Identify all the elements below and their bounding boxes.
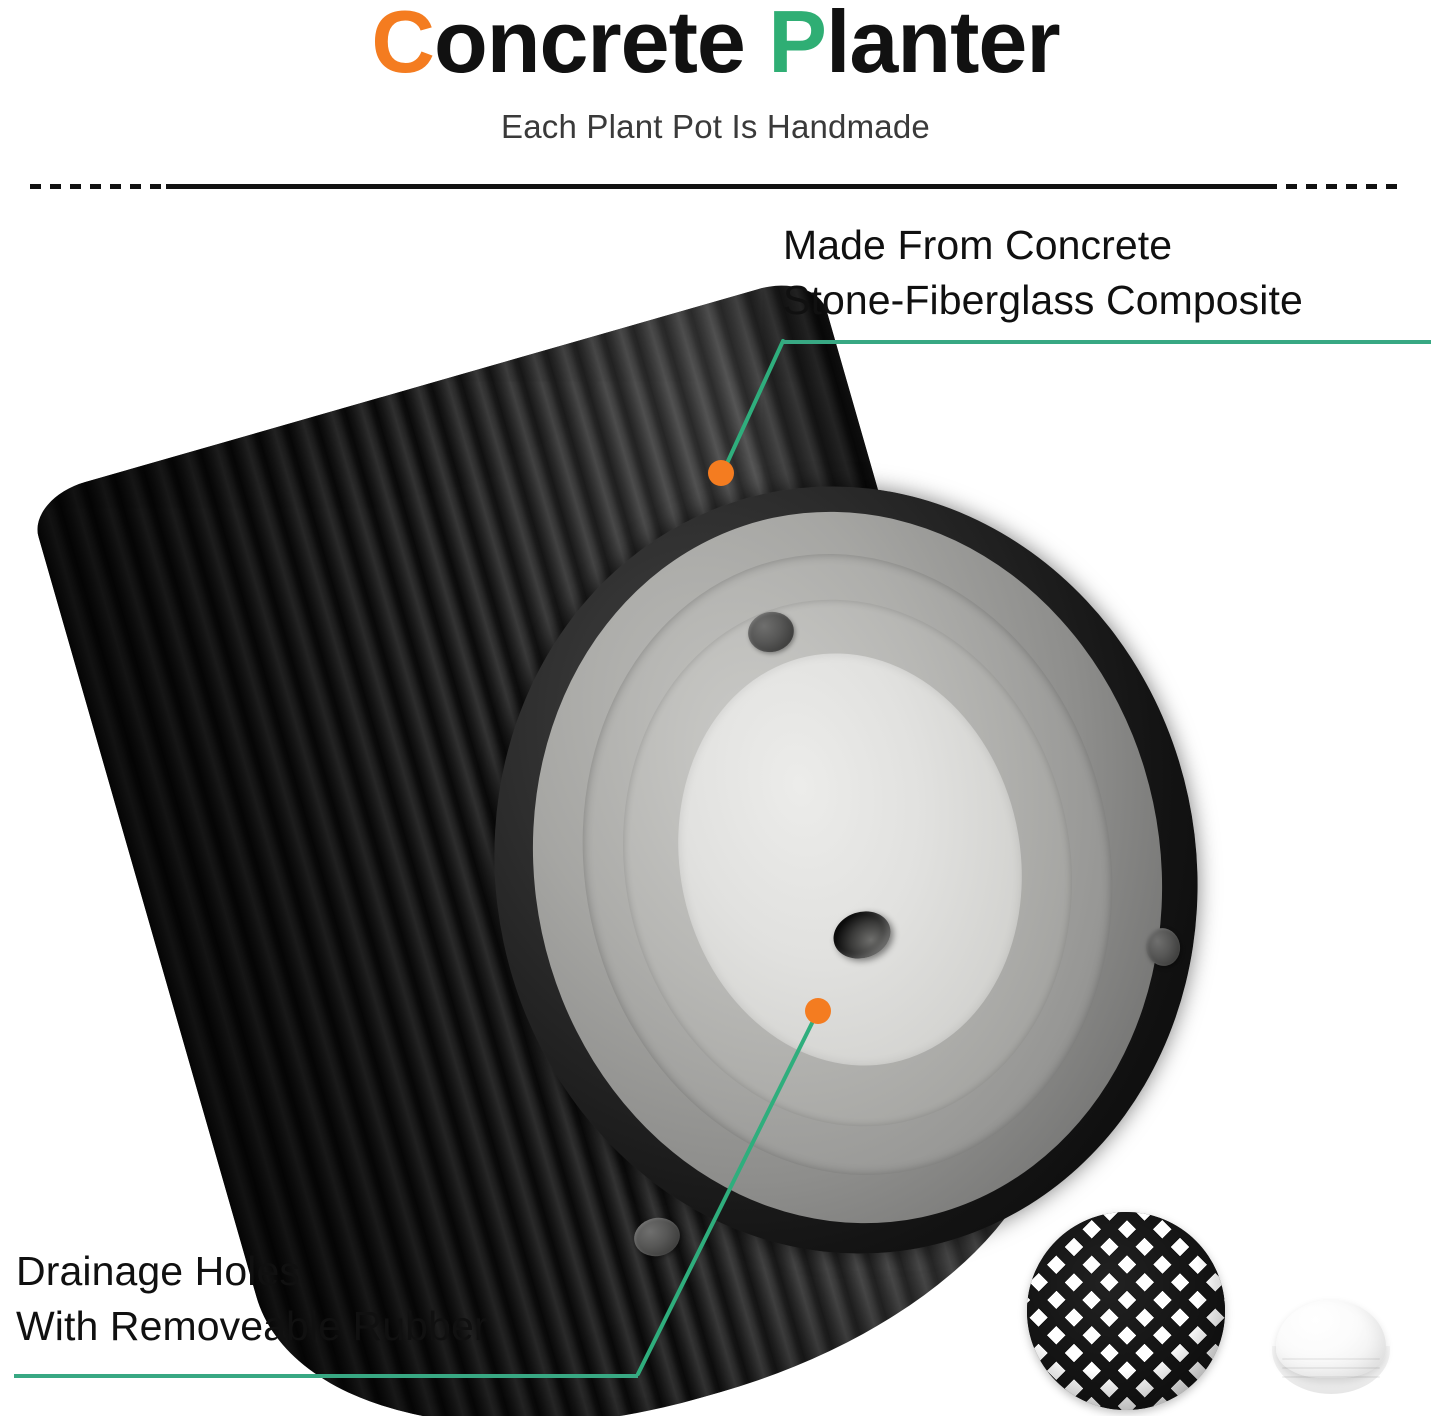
callout-material-line1: Made From Concrete — [783, 218, 1303, 273]
divider-solid-centre — [166, 184, 1266, 189]
rubber-plug-ridge — [1282, 1376, 1380, 1378]
callout-drainage-underline — [14, 1374, 638, 1378]
divider-dash-right — [1266, 184, 1401, 189]
header-divider — [30, 184, 1401, 189]
mesh-vignette — [1027, 1212, 1225, 1410]
callout-drainage-line1: Drainage Holes — [16, 1244, 488, 1299]
divider-dash-left — [30, 184, 168, 189]
infographic-page: Concrete Planter Each Plant Pot Is Handm… — [0, 0, 1431, 1416]
rubber-plug-ridge — [1282, 1367, 1380, 1369]
title-accent-p: P — [768, 0, 826, 91]
callout-material-underline — [783, 340, 1431, 344]
page-subtitle: Each Plant Pot Is Handmade — [0, 108, 1431, 146]
callout-dot-material — [708, 460, 734, 486]
page-title: Concrete Planter — [0, 0, 1431, 86]
callout-dot-drainage — [805, 998, 831, 1024]
rubber-plug-icon — [1272, 1300, 1390, 1396]
callout-drainage: Drainage Holes With Removeable Rubber — [16, 1244, 488, 1353]
title-rest-oncrete: oncrete — [434, 0, 768, 91]
callout-drainage-line2: With Removeable Rubber — [16, 1299, 488, 1354]
callout-material: Made From Concrete Stone-Fiberglass Comp… — [783, 218, 1303, 327]
title-rest-lanter: lanter — [826, 0, 1060, 91]
mesh-drainage-screen-icon — [1027, 1212, 1225, 1410]
rubber-plug-ridge — [1282, 1358, 1380, 1360]
header: Concrete Planter Each Plant Pot Is Handm… — [0, 0, 1431, 170]
title-accent-c: C — [371, 0, 434, 91]
callout-material-line2: Stone-Fiberglass Composite — [783, 273, 1303, 328]
